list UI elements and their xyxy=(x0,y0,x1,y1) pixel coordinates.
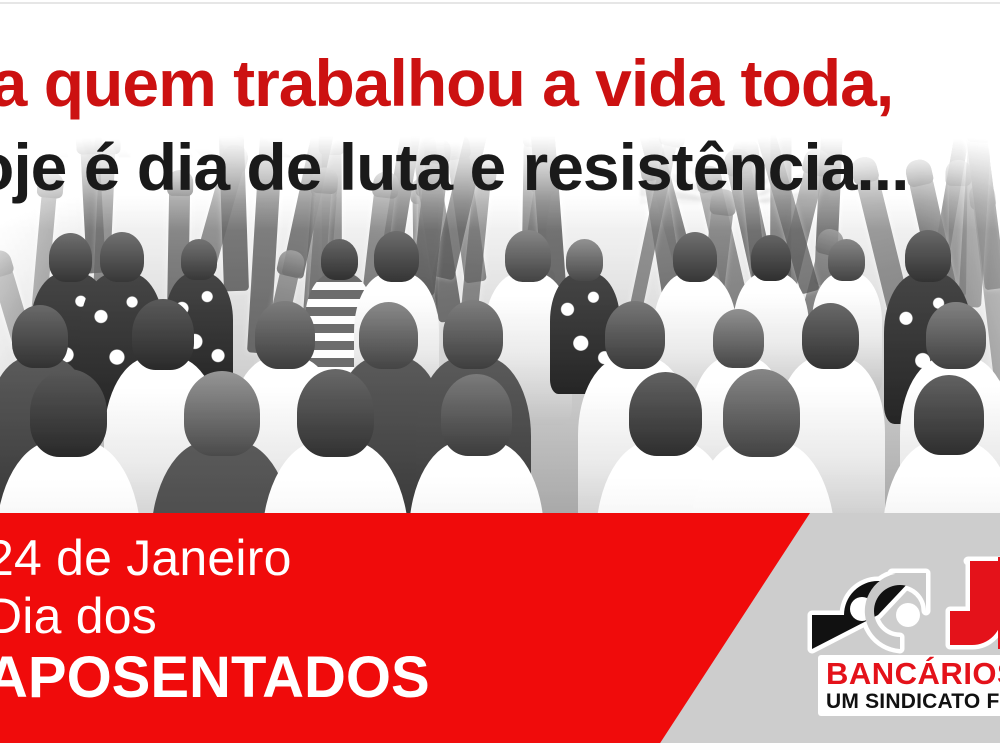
photo-person-head xyxy=(828,239,865,281)
headline: ra quem trabalhou a vida toda, oje é dia… xyxy=(0,44,1000,206)
photo-person-head xyxy=(49,233,92,282)
photo-person-head xyxy=(605,301,665,369)
event-date: 24 de Janeiro xyxy=(0,529,430,587)
photo-person-head xyxy=(443,300,504,369)
photo-person-head xyxy=(713,309,764,367)
union-logo[interactable]: BANCÁRIOS UM SINDICATO FORTE xyxy=(800,553,1000,716)
photo-person-head xyxy=(255,301,314,369)
photo-person-head xyxy=(566,239,603,281)
logo-wordmark: BANCÁRIOS UM SINDICATO FORTE xyxy=(818,655,1000,716)
campaign-banner: ra quem trabalhou a vida toda, oje é dia… xyxy=(0,0,1000,750)
top-divider-rule xyxy=(0,2,1000,4)
photo-person-head xyxy=(132,299,194,369)
photo-person-head xyxy=(914,375,984,455)
photo-person-head xyxy=(926,302,985,369)
photo-person-head xyxy=(297,369,375,457)
photo-person-head xyxy=(441,374,512,455)
bottom-bar: 24 de Janeiro Dia dos APOSENTADOS xyxy=(0,513,1000,750)
event-subtitle: Dia dos xyxy=(0,587,430,645)
photo-person-head xyxy=(505,230,551,283)
headline-line-1: ra quem trabalhou a vida toda, xyxy=(0,44,1000,122)
headline-line-2: oje é dia de luta e resistência... xyxy=(0,128,1000,206)
photo-person-head xyxy=(30,369,107,456)
logo-tagline-text: UM SINDICATO FORTE xyxy=(826,690,1000,713)
photo-person-head xyxy=(802,303,860,369)
logo-brand-text: BANCÁRIOS xyxy=(826,657,1000,690)
photo-person-head xyxy=(629,372,703,456)
photo-person-head xyxy=(723,369,800,457)
photo-person-head xyxy=(321,239,358,281)
photo-person-head xyxy=(181,239,217,280)
photo-person-head xyxy=(673,232,717,283)
event-title: APOSENTADOS xyxy=(0,647,430,709)
photo-person-head xyxy=(905,230,951,282)
photo-person-head xyxy=(374,231,419,282)
bottom-white-strip xyxy=(0,743,1000,750)
photo-person-head xyxy=(751,235,791,281)
seeb-logo-mark-icon xyxy=(800,553,1000,661)
photo-person-head xyxy=(100,232,144,283)
photo-person-head xyxy=(12,305,68,368)
photo-person-head xyxy=(359,302,418,369)
event-text-block: 24 de Janeiro Dia dos APOSENTADOS xyxy=(0,529,430,709)
photo-person-head xyxy=(184,371,259,457)
